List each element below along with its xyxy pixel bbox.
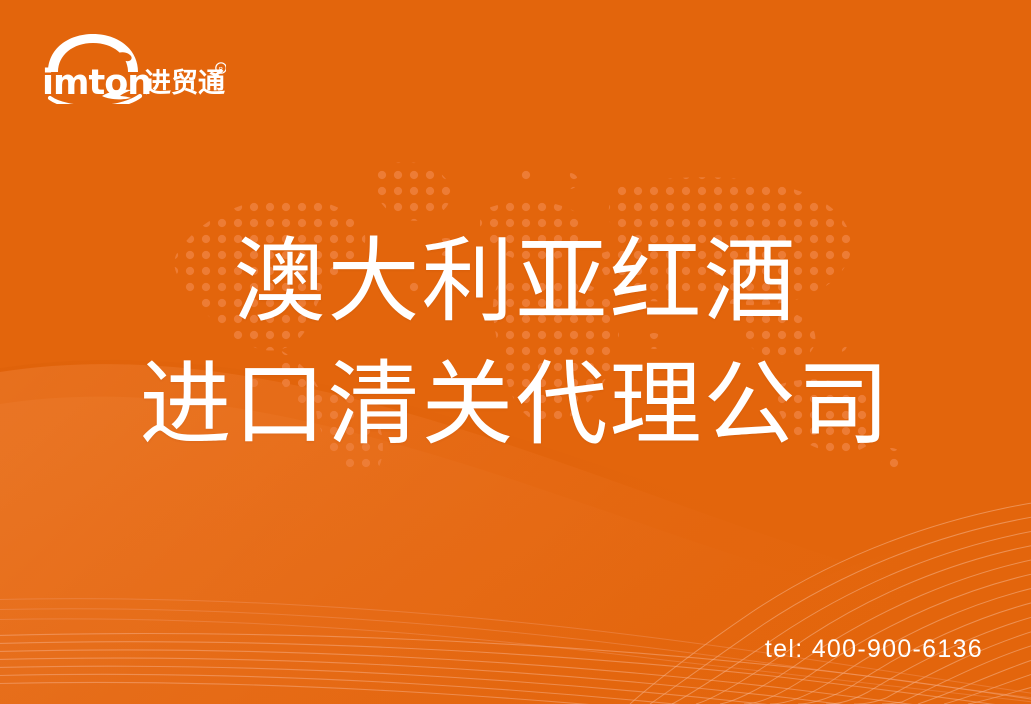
headline-line-1: 澳大利亚红酒	[0, 228, 1031, 337]
logo-chinese-name: 进贸通	[144, 68, 225, 99]
headline-line-2: 进口清关代理公司	[0, 351, 1031, 460]
page-title: 澳大利亚红酒 进口清关代理公司	[0, 228, 1031, 459]
brand-logo[interactable]: imton 进贸通 R	[36, 32, 226, 104]
logo-mark: imton 进贸通 R	[36, 32, 226, 104]
promo-banner: imton 进贸通 R 澳大利亚红酒 进口清关代理公司 tel: 400-900…	[0, 0, 1031, 704]
svg-text:R: R	[219, 65, 224, 73]
contact-telephone[interactable]: tel: 400-900-6136	[765, 635, 983, 664]
